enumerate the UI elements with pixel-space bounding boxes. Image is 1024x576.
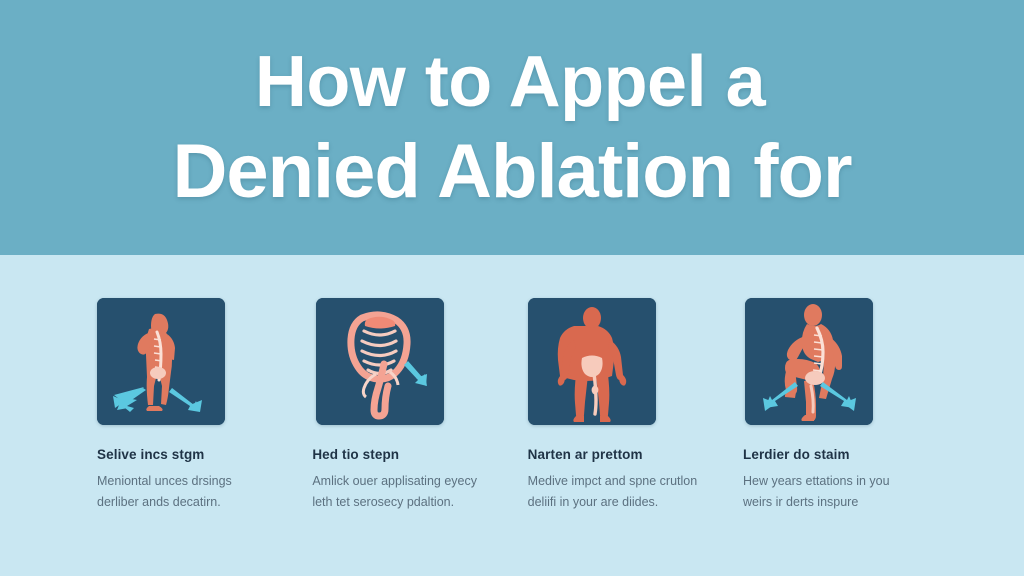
front-body-pelvis-highlight-icon <box>528 298 656 425</box>
step-caption: Hed tio stepn Amlick ouer applisating ey… <box>312 447 498 513</box>
step-heading: Narten ar prettom <box>528 447 714 462</box>
step-icon-card-4[interactable] <box>745 298 873 425</box>
step-item: Hed tio stepn Amlick ouer applisating ey… <box>312 298 498 513</box>
step-heading: Selive incs stgm <box>97 447 283 462</box>
rib-cage-organ-diagram-icon <box>316 298 444 425</box>
step-caption: Narten ar prettom Medive impct and spne … <box>528 447 714 513</box>
step-item: Narten ar prettom Medive impct and spne … <box>528 298 714 513</box>
header-band: How to Appel a Denied Ablation for <box>0 0 1024 255</box>
page-title: How to Appel a Denied Ablation for <box>0 38 1024 218</box>
infographic-root: How to Appel a Denied Ablation for <box>0 0 1024 576</box>
step-caption: Selive incs stgm Meniontal unces drsings… <box>97 447 283 513</box>
standing-figure-spine-pain-icon <box>97 298 225 425</box>
step-heading: Hed tio stepn <box>312 447 498 462</box>
step-body: Hew years ettations in you weirs ir dert… <box>743 471 915 513</box>
step-item: Lerdier do staim Hew years ettations in … <box>743 298 929 513</box>
step-body: Meniontal unces drsings derliber ands de… <box>97 471 269 513</box>
step-icon-card-1[interactable] <box>97 298 225 425</box>
seated-figure-spine-pelvis-icon <box>745 298 873 425</box>
step-icon-card-2[interactable] <box>316 298 444 425</box>
title-line-1: How to Appel a <box>0 38 1024 126</box>
title-line-2: Denied Ablation for <box>0 126 1024 218</box>
step-heading: Lerdier do staim <box>743 447 929 462</box>
step-body: Medive impct and spne crutlon deliifi in… <box>528 471 700 513</box>
step-icon-card-3[interactable] <box>528 298 656 425</box>
step-caption: Lerdier do staim Hew years ettations in … <box>743 447 929 513</box>
step-item: Selive incs stgm Meniontal unces drsings… <box>97 298 283 513</box>
steps-row: Selive incs stgm Meniontal unces drsings… <box>97 298 929 548</box>
step-body: Amlick ouer applisating eyecy leth tet s… <box>312 471 484 513</box>
